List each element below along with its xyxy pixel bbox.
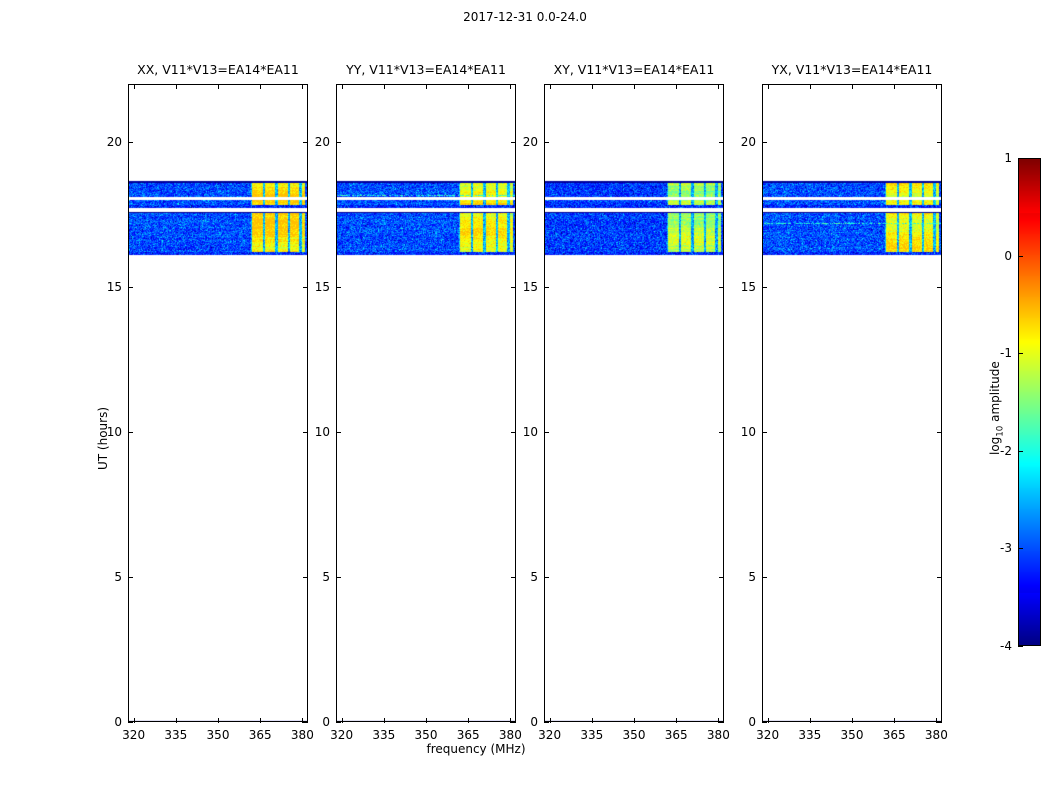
x-tickmark	[810, 718, 811, 723]
y-tickmark	[544, 577, 549, 578]
panel-title-xx: XX, V11*V13=EA14*EA11	[128, 62, 308, 77]
y-tick-label: 0	[512, 715, 538, 729]
x-tickmark-top	[550, 84, 551, 89]
waterfall-plot-xx	[128, 84, 308, 722]
x-tickmark	[634, 718, 635, 723]
x-tickmark	[894, 718, 895, 723]
panel-yx: YX, V11*V13=EA14*EA11	[762, 84, 942, 722]
x-tickmark	[218, 718, 219, 723]
x-tickmark	[176, 718, 177, 723]
y-tickmark	[544, 432, 549, 433]
y-tick-label: 15	[304, 280, 330, 294]
y-tickmark	[336, 432, 341, 433]
colorbar-gradient	[1018, 158, 1041, 646]
y-tick-label: 20	[96, 135, 122, 149]
y-tickmark-right	[937, 722, 942, 723]
y-tickmark	[336, 142, 341, 143]
x-tick-label: 365	[883, 728, 906, 742]
y-axis-label: UT (hours)	[96, 407, 110, 470]
colorbar-tickmark	[1018, 451, 1023, 452]
x-tick-label: 350	[623, 728, 646, 742]
y-tickmark-right	[937, 432, 942, 433]
colorbar-tick-label: 1	[988, 151, 1012, 165]
y-tickmark-right	[719, 722, 724, 723]
panel-title-yy: YY, V11*V13=EA14*EA11	[336, 62, 516, 77]
figure-suptitle: 2017-12-31 0.0-24.0	[0, 10, 1050, 24]
x-tickmark-top	[676, 84, 677, 89]
y-tickmark	[762, 142, 767, 143]
y-tick-label: 10	[512, 425, 538, 439]
spectrogram-image-yy	[337, 85, 516, 722]
y-tickmark	[762, 577, 767, 578]
y-tick-label: 5	[304, 570, 330, 584]
x-tickmark-top	[894, 84, 895, 89]
y-tick-label: 15	[512, 280, 538, 294]
x-tick-label: 335	[580, 728, 603, 742]
x-tickmark-top	[384, 84, 385, 89]
x-tickmark-top	[302, 84, 303, 89]
x-tickmark-top	[134, 84, 135, 89]
x-tickmark	[260, 718, 261, 723]
y-tickmark	[336, 722, 341, 723]
panel-title-yx: YX, V11*V13=EA14*EA11	[762, 62, 942, 77]
y-tickmark-right	[719, 432, 724, 433]
x-tickmark-top	[510, 84, 511, 89]
x-tick-label: 380	[291, 728, 314, 742]
y-tickmark	[128, 287, 133, 288]
waterfall-plot-yx	[762, 84, 942, 722]
x-tick-label: 335	[164, 728, 187, 742]
y-tickmark	[762, 287, 767, 288]
y-tick-label: 5	[96, 570, 122, 584]
x-tickmark	[550, 718, 551, 723]
colorbar-tick-label: -3	[988, 541, 1012, 555]
x-tick-label: 380	[925, 728, 948, 742]
x-tick-label: 365	[457, 728, 480, 742]
x-tickmark	[852, 718, 853, 723]
spectrogram-image-yx	[763, 85, 942, 722]
colorbar-label-suffix: amplitude	[988, 361, 1002, 425]
y-tickmark	[336, 577, 341, 578]
x-tickmark-top	[468, 84, 469, 89]
x-tickmark-top	[592, 84, 593, 89]
x-tick-label: 335	[798, 728, 821, 742]
x-tick-label: 350	[207, 728, 230, 742]
y-tick-label: 10	[730, 425, 756, 439]
figure-canvas: 2017-12-31 0.0-24.0 XX, V11*V13=EA14*EA1…	[0, 0, 1050, 800]
colorbar-label: log10 amplitude	[988, 361, 1005, 455]
x-tick-label: 380	[707, 728, 730, 742]
spectrogram-image-xx	[129, 85, 308, 722]
y-tick-label: 20	[512, 135, 538, 149]
y-tickmark-right	[937, 577, 942, 578]
y-tick-label: 15	[96, 280, 122, 294]
y-tick-label: 15	[730, 280, 756, 294]
waterfall-plot-yy	[336, 84, 516, 722]
y-tickmark	[762, 722, 767, 723]
x-tickmark-top	[768, 84, 769, 89]
x-tick-label: 320	[538, 728, 561, 742]
y-tickmark	[544, 142, 549, 143]
y-tickmark	[128, 142, 133, 143]
panel-xy: XY, V11*V13=EA14*EA11	[544, 84, 724, 722]
panel-yy: YY, V11*V13=EA14*EA11	[336, 84, 516, 722]
waterfall-plot-xy	[544, 84, 724, 722]
spectrogram-image-xy	[545, 85, 724, 722]
x-tickmark	[134, 718, 135, 723]
x-tick-label: 320	[330, 728, 353, 742]
x-tickmark-top	[260, 84, 261, 89]
colorbar-tickmark	[1018, 158, 1023, 159]
y-tickmark-right	[719, 287, 724, 288]
x-tick-label: 335	[372, 728, 395, 742]
y-tickmark	[544, 287, 549, 288]
x-tickmark	[768, 718, 769, 723]
colorbar-label-sub: 10	[995, 426, 1005, 437]
x-tickmark-top	[342, 84, 343, 89]
x-tick-label: 350	[841, 728, 864, 742]
colorbar-tickmark	[1018, 256, 1023, 257]
y-tick-label: 5	[512, 570, 538, 584]
x-tick-label: 320	[756, 728, 779, 742]
x-tickmark-top	[634, 84, 635, 89]
y-tickmark	[544, 722, 549, 723]
x-tickmark	[426, 718, 427, 723]
x-tick-label: 380	[499, 728, 522, 742]
y-tickmark-right	[937, 142, 942, 143]
x-tickmark	[468, 718, 469, 723]
x-tick-label: 365	[249, 728, 272, 742]
y-tickmark-right	[719, 577, 724, 578]
y-tick-label: 20	[304, 135, 330, 149]
x-tickmark-top	[936, 84, 937, 89]
x-tickmark-top	[810, 84, 811, 89]
x-tickmark	[342, 718, 343, 723]
colorbar	[1018, 158, 1041, 646]
colorbar-tickmark	[1018, 548, 1023, 549]
y-tick-label: 0	[96, 715, 122, 729]
y-tickmark	[336, 287, 341, 288]
y-tickmark	[762, 432, 767, 433]
x-tickmark	[592, 718, 593, 723]
x-axis-label: frequency (MHz)	[336, 742, 616, 756]
colorbar-tickmark	[1018, 646, 1023, 647]
y-tickmark	[128, 722, 133, 723]
y-tickmark-right	[937, 287, 942, 288]
x-tickmark-top	[176, 84, 177, 89]
y-tickmark	[128, 432, 133, 433]
y-tick-label: 0	[304, 715, 330, 729]
x-tickmark-top	[718, 84, 719, 89]
colorbar-tick-label: -4	[988, 639, 1012, 653]
y-tickmark	[128, 577, 133, 578]
x-tickmark	[384, 718, 385, 723]
y-tick-label: 0	[730, 715, 756, 729]
x-tickmark-top	[218, 84, 219, 89]
x-tick-label: 365	[665, 728, 688, 742]
y-tick-label: 5	[730, 570, 756, 584]
colorbar-tickmark	[1018, 353, 1023, 354]
y-tick-label: 20	[730, 135, 756, 149]
x-tick-label: 350	[415, 728, 438, 742]
panel-title-xy: XY, V11*V13=EA14*EA11	[544, 62, 724, 77]
x-tickmark	[676, 718, 677, 723]
x-tick-label: 320	[122, 728, 145, 742]
colorbar-tick-label: -2	[988, 444, 1012, 458]
panel-xx: XX, V11*V13=EA14*EA11	[128, 84, 308, 722]
colorbar-tick-label: 0	[988, 249, 1012, 263]
colorbar-tick-label: -1	[988, 346, 1012, 360]
x-tickmark-top	[426, 84, 427, 89]
y-tickmark-right	[719, 142, 724, 143]
x-tickmark-top	[852, 84, 853, 89]
y-tick-label: 10	[304, 425, 330, 439]
